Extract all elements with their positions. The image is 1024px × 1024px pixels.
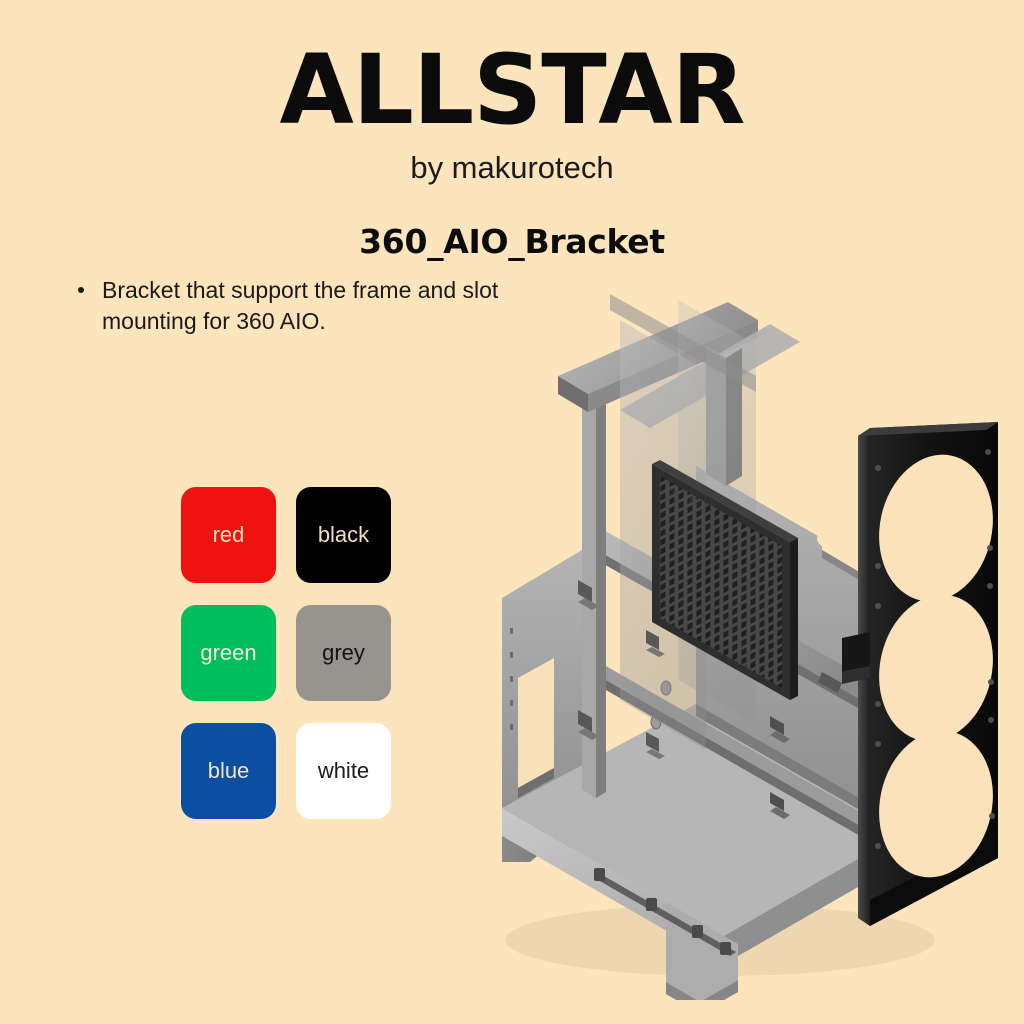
product-render-image: SLATE [470, 280, 1024, 1000]
color-swatch-label-black: black [318, 522, 369, 548]
aio-bracket-panel [842, 422, 1006, 926]
description-bullet-text: Bracket that support the frame and slot … [102, 277, 498, 334]
product-name: 360_AIO_Bracket [0, 222, 1024, 261]
color-swatch-red[interactable]: red [181, 487, 276, 583]
color-swatch-label-red: red [213, 522, 245, 548]
brand-title: ALLSTAR [0, 42, 1024, 138]
product-render: SLATE [470, 280, 1024, 1000]
color-swatch-black[interactable]: black [296, 487, 391, 583]
brand-subtitle: by makurotech [0, 150, 1024, 186]
header: ALLSTAR by makurotech 360_AIO_Bracket [0, 0, 1024, 261]
color-swatch-white[interactable]: white [296, 723, 391, 819]
color-swatch-blue[interactable]: blue [181, 723, 276, 819]
color-swatch-green[interactable]: green [181, 605, 276, 701]
color-swatch-grey[interactable]: grey [296, 605, 391, 701]
color-swatch-label-white: white [318, 758, 369, 784]
color-swatch-grid: red black green grey blue white [181, 487, 391, 819]
color-swatch-label-grey: grey [322, 640, 365, 666]
product-info-card: ALLSTAR by makurotech 360_AIO_Bracket Br… [0, 0, 1024, 1024]
bullet-dot-icon [78, 287, 84, 293]
color-swatch-label-green: green [200, 640, 256, 666]
color-swatch-label-blue: blue [208, 758, 250, 784]
